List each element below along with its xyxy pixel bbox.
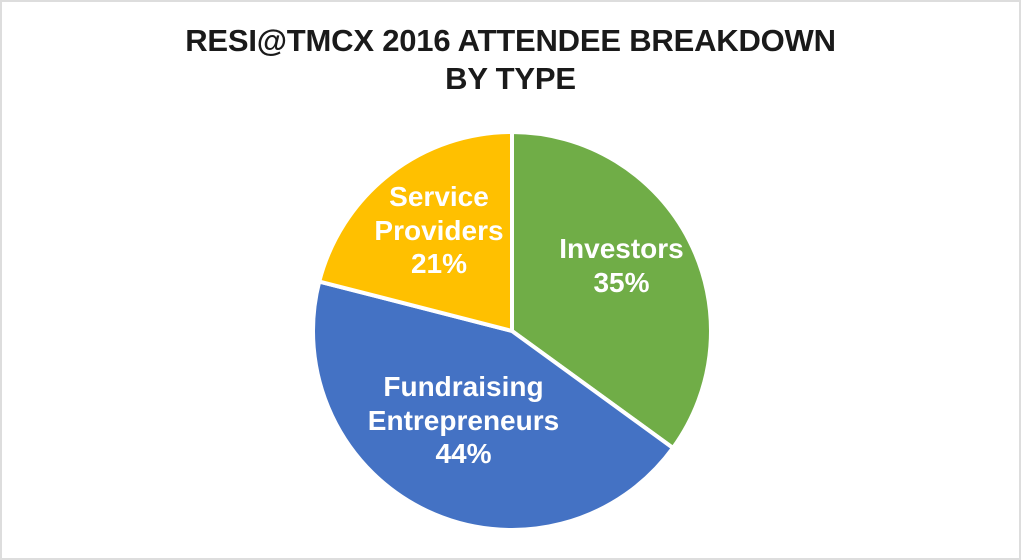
pie-chart-figure: RESI@TMCX 2016 ATTENDEE BREAKDOWN BY TYP… — [0, 0, 1021, 560]
pie-svg — [311, 130, 713, 532]
chart-title: RESI@TMCX 2016 ATTENDEE BREAKDOWN BY TYP… — [2, 22, 1019, 98]
pie-chart-graphic — [311, 130, 713, 532]
